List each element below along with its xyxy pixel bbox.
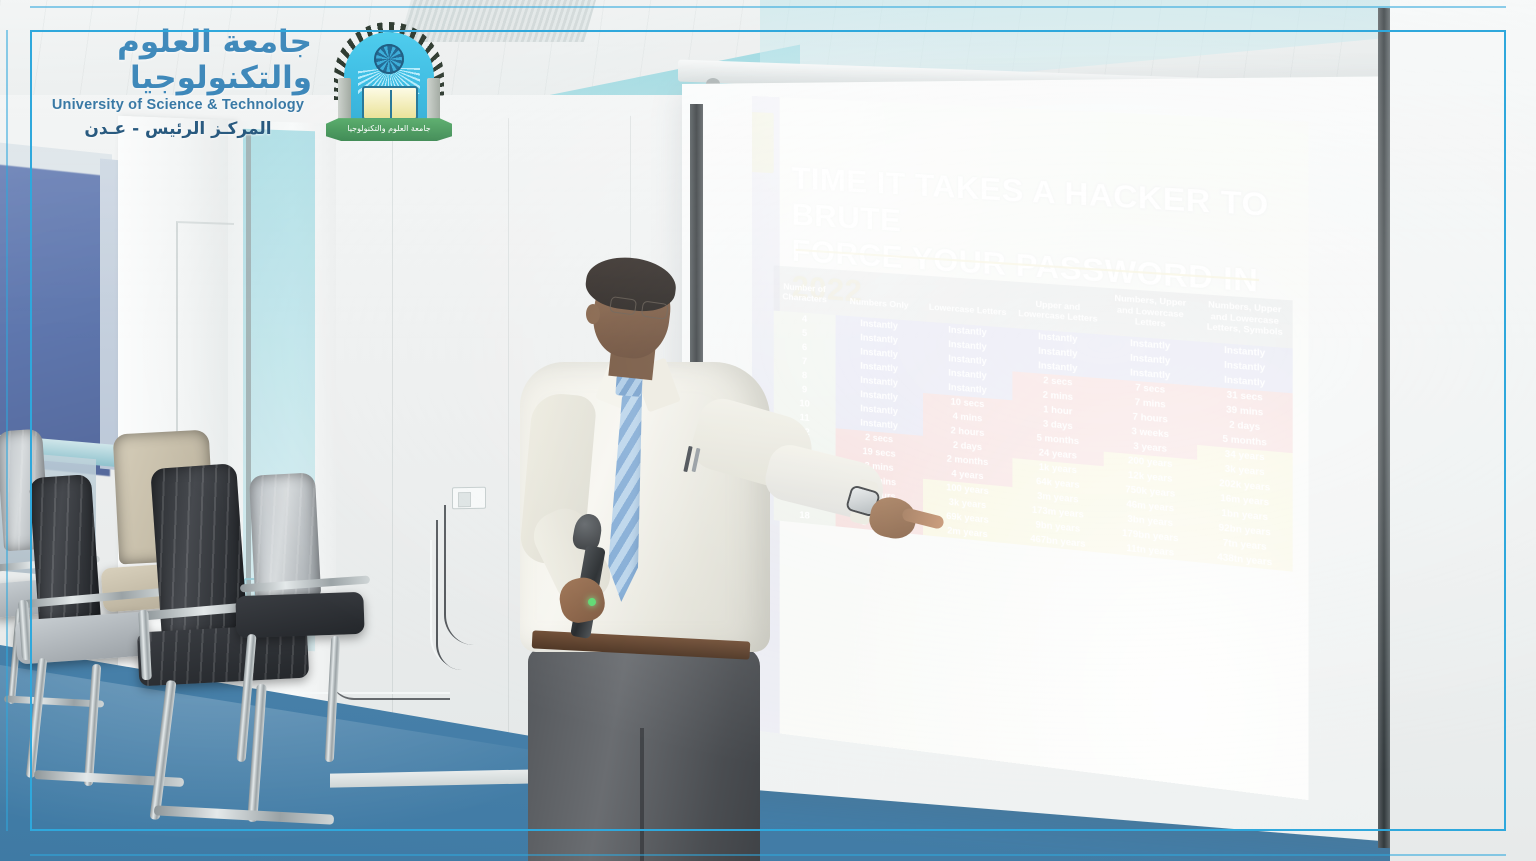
partition-frame-right bbox=[1378, 8, 1390, 848]
frame-border-top-outer bbox=[30, 6, 1506, 8]
photo-canvas: University of Science & Technology TIME … bbox=[0, 0, 1536, 861]
presenter bbox=[498, 258, 858, 818]
right-wall-panel bbox=[1390, 0, 1536, 861]
slide-corner-badge bbox=[752, 112, 774, 173]
frame-border-right bbox=[1504, 30, 1506, 831]
frame-border-left bbox=[30, 30, 32, 831]
chair-right bbox=[212, 462, 442, 792]
frame-border-bottom-outer bbox=[30, 854, 1506, 856]
frame-border-left-outer bbox=[6, 30, 8, 831]
emblem-atom-icon bbox=[374, 44, 404, 74]
header-numbers-upper-lowercase: Numbers, Upper and Lowercase Letters bbox=[1104, 288, 1197, 342]
slide-title-line1: TIME IT TAKES A HACKER TO BRUTE bbox=[792, 160, 1269, 238]
emblem-ribbon-text: جامعة العلوم والتكنولوجيا bbox=[326, 116, 452, 142]
header-numbers-upper-lowercase-symbols: Numbers, Upper and Lowercase Letters, Sy… bbox=[1197, 294, 1293, 348]
header-upper-lowercase: Upper and Lowercase Letters bbox=[1012, 282, 1103, 335]
frame-border-bottom bbox=[30, 829, 1506, 831]
university-logo: جامعة العلوم والتكنولوجيا University of … bbox=[44, 24, 444, 154]
university-emblem-icon: جامعة العلوم والتكنولوجيا bbox=[326, 20, 452, 148]
emblem-ribbon: جامعة العلوم والتكنولوجيا bbox=[326, 116, 452, 142]
presenter-leg-split bbox=[640, 728, 644, 861]
logo-arabic-branch: المركـز الرئيس - عـدن bbox=[44, 119, 312, 139]
emblem-book-icon bbox=[362, 86, 418, 120]
presenter-ear bbox=[586, 304, 600, 324]
logo-english-name: University of Science & Technology bbox=[44, 97, 312, 113]
logo-arabic-name: جامعة العلوم والتكنولوجيا bbox=[44, 24, 312, 96]
frame-border-top bbox=[30, 30, 1506, 32]
header-lowercase-letters: Lowercase Letters bbox=[923, 276, 1012, 328]
